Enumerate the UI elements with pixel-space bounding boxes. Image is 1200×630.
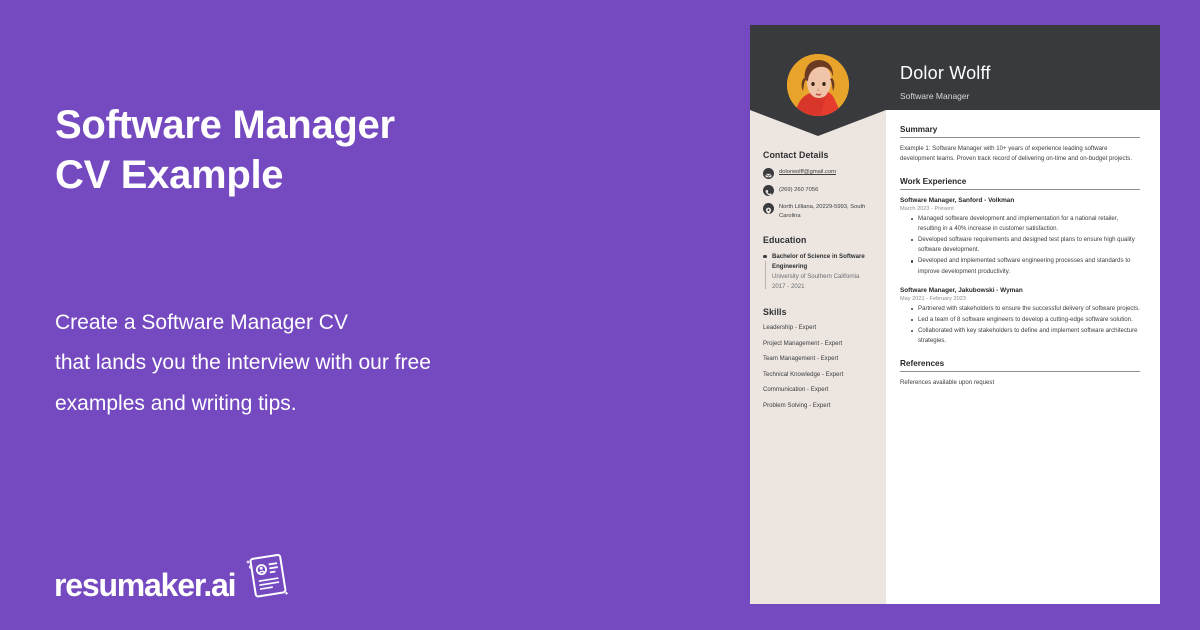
job-bullet: Partnered with stakeholders to ensure th… <box>911 304 1140 314</box>
contact-details-section: Contact Details dolorwolff@gmail.com (26… <box>763 150 875 221</box>
cv-candidate-name: Dolor Wolff <box>900 63 991 84</box>
education-section: Education Bachelor of Science in Softwar… <box>763 235 875 291</box>
education-dates: 2017 - 2021 <box>772 283 805 290</box>
references-section: References References available upon req… <box>900 359 1140 388</box>
work-experience-section: Work Experience Software Manager, Sanfor… <box>900 177 1140 347</box>
job-dates: March 2023 - Present <box>900 206 1140 212</box>
envelope-icon <box>763 168 774 179</box>
job-bullet: Developed and implemented software engin… <box>911 256 1140 277</box>
skill-item: Problem Solving - Expert <box>763 402 875 409</box>
job-title: Software Manager, Sanford - Volkman <box>900 196 1140 206</box>
promo-subtitle: Create a Software Manager CV that lands … <box>55 303 431 424</box>
phone-icon <box>763 185 774 196</box>
skill-item: Technical Knowledge - Expert <box>763 371 875 378</box>
job-bullet-list: Partnered with stakeholders to ensure th… <box>900 304 1140 347</box>
work-experience-heading: Work Experience <box>900 177 1140 190</box>
summary-heading: Summary <box>900 125 1140 138</box>
summary-section: Summary Example 1: Software Manager with… <box>900 125 1140 165</box>
skill-item: Team Management - Expert <box>763 355 875 362</box>
resumaker-logo[interactable]: resumaker.ai <box>54 552 292 601</box>
work-experience-entry: Software Manager, Sanford - Volkman Marc… <box>900 196 1140 277</box>
skills-section: Skills Leadership - Expert Project Manag… <box>763 307 875 409</box>
contact-address-text: North Lilliana, 20229-5993, South Caroli… <box>779 202 875 221</box>
education-school: University of Southern California <box>772 273 859 280</box>
education-bullet-marker <box>763 252 772 291</box>
logo-wordmark: resumaker.ai <box>54 569 235 601</box>
education-entry: Bachelor of Science in Software Engineer… <box>763 252 875 291</box>
skill-item: Leadership - Expert <box>763 324 875 331</box>
subtitle-line-1: Create a Software Manager CV <box>55 303 431 343</box>
page-title: Software Manager CV Example <box>55 100 395 200</box>
job-bullet: Developed software requirements and desi… <box>911 235 1140 256</box>
job-bullet-list: Managed software development and impleme… <box>900 214 1140 278</box>
resume-document-icon <box>240 552 292 600</box>
contact-item-email[interactable]: dolorwolff@gmail.com <box>763 167 875 179</box>
summary-text: Example 1: Software Manager with 10+ yea… <box>900 144 1140 165</box>
references-heading: References <box>900 359 1140 372</box>
headline-line-1: Software Manager <box>55 100 395 150</box>
job-bullet: Collaborated with key stakeholders to de… <box>911 326 1140 347</box>
cv-sidebar-content: Contact Details dolorwolff@gmail.com (26… <box>763 150 875 421</box>
job-dates: May 2021 - February 2023 <box>900 296 1140 302</box>
skill-item: Project Management - Expert <box>763 340 875 347</box>
references-text: References available upon request <box>900 378 1140 388</box>
education-degree: Bachelor of Science in Software Engineer… <box>772 253 865 270</box>
education-heading: Education <box>763 235 875 245</box>
headline-line-2: CV Example <box>55 150 395 200</box>
work-experience-entry: Software Manager, Jakubowski - Wyman May… <box>900 286 1140 346</box>
skills-heading: Skills <box>763 307 875 317</box>
skill-item: Communication - Expert <box>763 386 875 393</box>
job-title: Software Manager, Jakubowski - Wyman <box>900 286 1140 296</box>
contact-item-phone[interactable]: (269) 260 7056 <box>763 185 875 197</box>
job-bullet: Managed software development and impleme… <box>911 214 1140 235</box>
subtitle-line-3: examples and writing tips. <box>55 384 431 424</box>
cv-candidate-role: Software Manager <box>900 91 969 101</box>
job-bullet: Led a team of 8 software engineers to de… <box>911 315 1140 325</box>
contact-item-address[interactable]: North Lilliana, 20229-5993, South Caroli… <box>763 202 875 221</box>
location-pin-icon <box>763 203 774 214</box>
cv-main-content: Summary Example 1: Software Manager with… <box>900 125 1140 400</box>
promo-panel: Software Manager CV Example Create a Sof… <box>0 0 750 630</box>
contact-phone-text: (269) 260 7056 <box>779 185 818 195</box>
contact-details-heading: Contact Details <box>763 150 875 160</box>
subtitle-line-2: that lands you the interview with our fr… <box>55 343 431 383</box>
avatar <box>787 54 849 116</box>
contact-email-text: dolorwolff@gmail.com <box>779 167 836 177</box>
cv-preview-card[interactable]: Dolor Wolff Software Manager Contact Det… <box>750 25 1160 604</box>
